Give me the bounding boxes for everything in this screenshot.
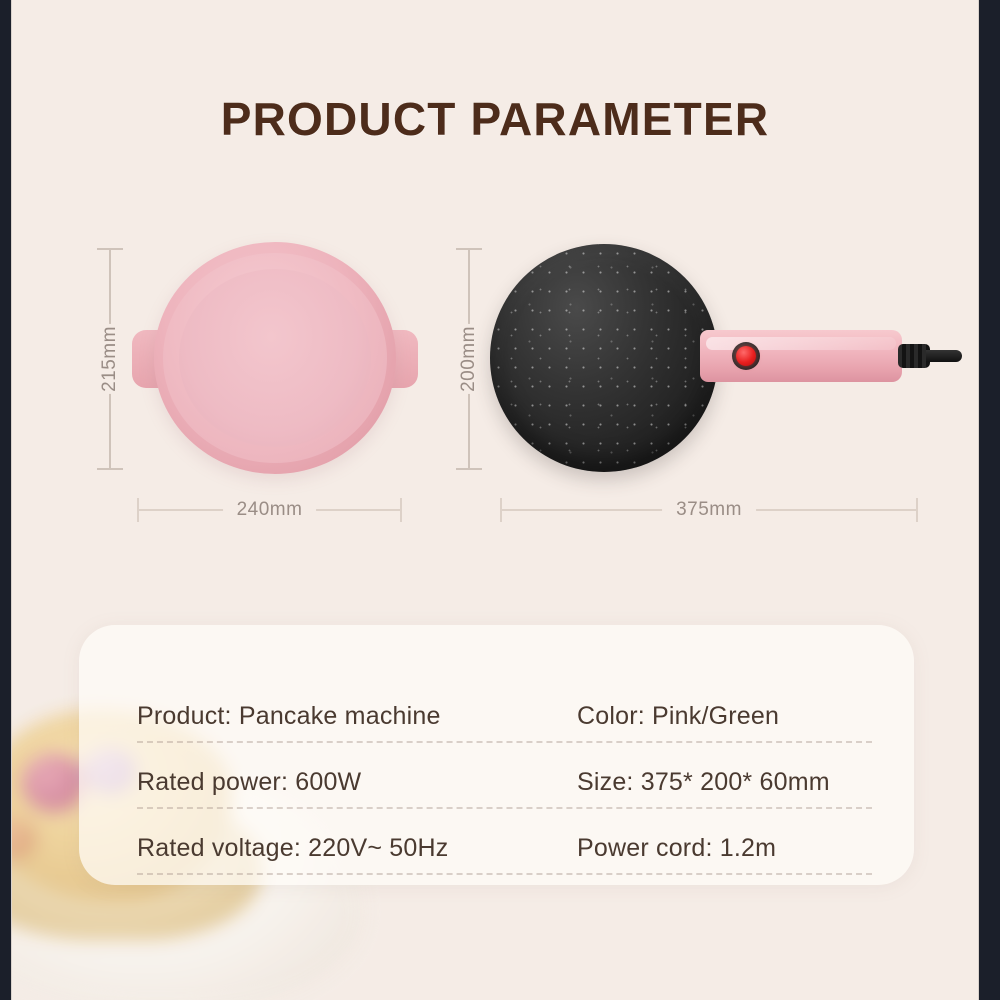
- black-pan-width-measure: 375mm: [500, 495, 918, 525]
- spec-color: Color: Pink/Green: [577, 702, 872, 741]
- measure-tick-bottom: [97, 468, 123, 470]
- product-parameter-page: PRODUCT PARAMETER 215mm: [11, 0, 979, 1000]
- specification-table: Product: Pancake machine Color: Pink/Gre…: [137, 677, 872, 875]
- pink-pan-illustration: [130, 238, 420, 478]
- pink-pan-cooking-surface: [179, 269, 371, 447]
- spec-size: Size: 375* 200* 60mm: [577, 768, 872, 807]
- spec-product: Product: Pancake machine: [137, 702, 577, 741]
- pink-pan-rim: [163, 253, 387, 463]
- pink-pan-height-label: 215mm: [94, 324, 126, 394]
- black-pan-height-label: 200mm: [453, 324, 485, 394]
- power-indicator-light-icon: [736, 346, 756, 366]
- measure-tick-top: [456, 248, 482, 250]
- pink-pan-height-measure: 215mm: [90, 248, 130, 470]
- measure-tick-left: [500, 498, 502, 522]
- table-row: Rated power: 600W Size: 375* 200* 60mm: [137, 743, 872, 809]
- spec-rated-voltage: Rated voltage: 220V~ 50Hz: [137, 834, 577, 873]
- pink-pan-width-measure: 240mm: [137, 495, 402, 525]
- handle-body: [700, 330, 902, 382]
- berry-shape: [22, 754, 86, 812]
- measure-tick-left: [137, 498, 139, 522]
- spec-rated-power: Rated power: 600W: [137, 768, 577, 807]
- black-pan-rim-shading: [490, 244, 718, 472]
- measure-tick-right: [916, 498, 918, 522]
- power-indicator-bezel: [732, 342, 760, 370]
- black-pan-body: [490, 244, 718, 472]
- measure-tick-top: [97, 248, 123, 250]
- measure-tick-right: [400, 498, 402, 522]
- specification-panel: Product: Pancake machine Color: Pink/Gre…: [79, 625, 914, 885]
- table-row: Rated voltage: 220V~ 50Hz Power cord: 1.…: [137, 809, 872, 875]
- table-row: Product: Pancake machine Color: Pink/Gre…: [137, 677, 872, 743]
- screenshot-canvas: PRODUCT PARAMETER 215mm: [0, 0, 1000, 1000]
- product-diagram-area: 215mm 240mm: [12, 0, 979, 560]
- measure-tick-bottom: [456, 468, 482, 470]
- pink-pan-width-label: 240mm: [223, 499, 317, 521]
- black-pan-width-label: 375mm: [662, 499, 756, 521]
- power-cord: [926, 350, 962, 362]
- spec-power-cord: Power cord: 1.2m: [577, 834, 872, 873]
- pink-pan-body: [154, 242, 396, 474]
- black-pan-illustration: [482, 238, 942, 478]
- black-pan-handle: [700, 330, 940, 382]
